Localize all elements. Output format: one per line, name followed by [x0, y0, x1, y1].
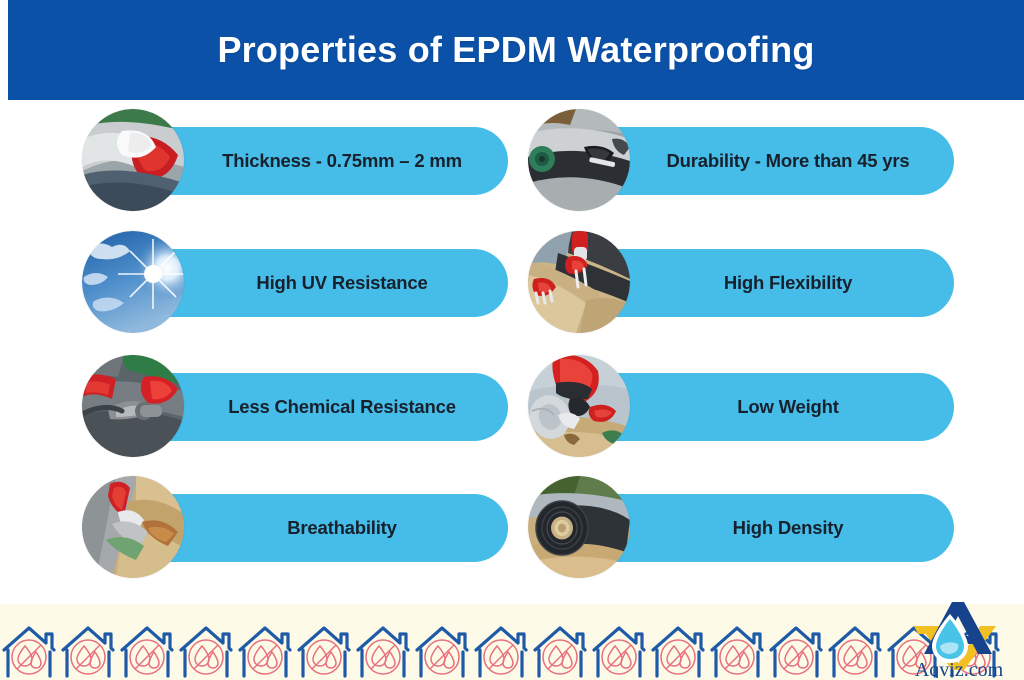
house-no-water-icon — [531, 610, 590, 680]
property-label: Thickness - 0.75mm – 2 mm — [222, 150, 462, 172]
bottom-decorative-band — [0, 604, 1024, 680]
membrane-roll-on-roof-photo-icon — [82, 476, 184, 578]
house-no-water-icon — [413, 610, 472, 680]
property-pill[interactable]: High Density — [574, 494, 954, 562]
epdm-membrane-gloved-hand-photo-icon — [82, 109, 184, 211]
page-title: Properties of EPDM Waterproofing — [217, 29, 814, 71]
house-no-water-icon — [0, 610, 59, 680]
properties-column-right: Durability - More than 45 yrs — [528, 108, 988, 598]
property-label: High UV Resistance — [256, 272, 427, 294]
property-item[interactable]: Low Weight — [528, 354, 968, 458]
heat-gun-seam-welding-photo-icon — [82, 355, 184, 457]
property-pill[interactable]: High Flexibility — [574, 249, 954, 317]
worker-carrying-light-roll-photo-icon — [528, 355, 630, 457]
house-no-water-icon — [590, 610, 649, 680]
property-label: High Flexibility — [724, 272, 852, 294]
property-item[interactable]: High Density — [528, 475, 968, 579]
property-label: Low Weight — [737, 396, 838, 418]
house-no-water-icon — [59, 610, 118, 680]
roller-applying-membrane-photo-icon — [528, 109, 630, 211]
property-item[interactable]: Less Chemical Resistance — [82, 354, 522, 458]
house-no-water-icon — [649, 610, 708, 680]
property-item[interactable]: High UV Resistance — [82, 230, 522, 334]
logo-wordmark: Aqviz.com — [915, 659, 1004, 678]
property-pill[interactable]: Thickness - 0.75mm – 2 mm — [128, 127, 508, 195]
house-no-water-icon — [118, 610, 177, 680]
house-pattern-strip — [0, 604, 1024, 680]
house-no-water-icon — [767, 610, 826, 680]
house-no-water-icon — [472, 610, 531, 680]
house-no-water-icon — [826, 610, 885, 680]
property-pill[interactable]: Less Chemical Resistance — [128, 373, 508, 441]
house-no-water-icon — [177, 610, 236, 680]
properties-column-left: Thickness - 0.75mm – 2 mm — [82, 108, 542, 598]
house-no-water-icon — [236, 610, 295, 680]
property-pill[interactable]: Durability - More than 45 yrs — [574, 127, 954, 195]
house-no-water-icon — [295, 610, 354, 680]
worker-red-gloves-flexing-sheet-photo-icon — [528, 231, 630, 333]
sun-through-clouds-sky-photo-icon — [82, 231, 184, 333]
property-item[interactable]: Breathability — [82, 475, 522, 579]
property-item[interactable]: Thickness - 0.75mm – 2 mm — [82, 108, 522, 212]
property-item[interactable]: High Flexibility — [528, 230, 968, 334]
property-item[interactable]: Durability - More than 45 yrs — [528, 108, 968, 212]
property-label: Durability - More than 45 yrs — [667, 150, 910, 172]
property-pill[interactable]: Breathability — [128, 494, 508, 562]
property-label: High Density — [733, 517, 844, 539]
property-label: Less Chemical Resistance — [228, 396, 456, 418]
house-no-water-icon — [354, 610, 413, 680]
property-label: Breathability — [287, 517, 396, 539]
header-banner: Properties of EPDM Waterproofing — [8, 0, 1024, 100]
aqviz-logo[interactable]: Aqviz.com — [900, 596, 1018, 678]
rolled-epdm-membrane-photo-icon — [528, 476, 630, 578]
infographic-canvas: Properties of EPDM Waterproofing Thickne… — [0, 0, 1024, 680]
property-pill[interactable]: High UV Resistance — [128, 249, 508, 317]
house-no-water-icon — [708, 610, 767, 680]
property-pill[interactable]: Low Weight — [574, 373, 954, 441]
properties-grid: Thickness - 0.75mm – 2 mm — [0, 108, 1024, 598]
